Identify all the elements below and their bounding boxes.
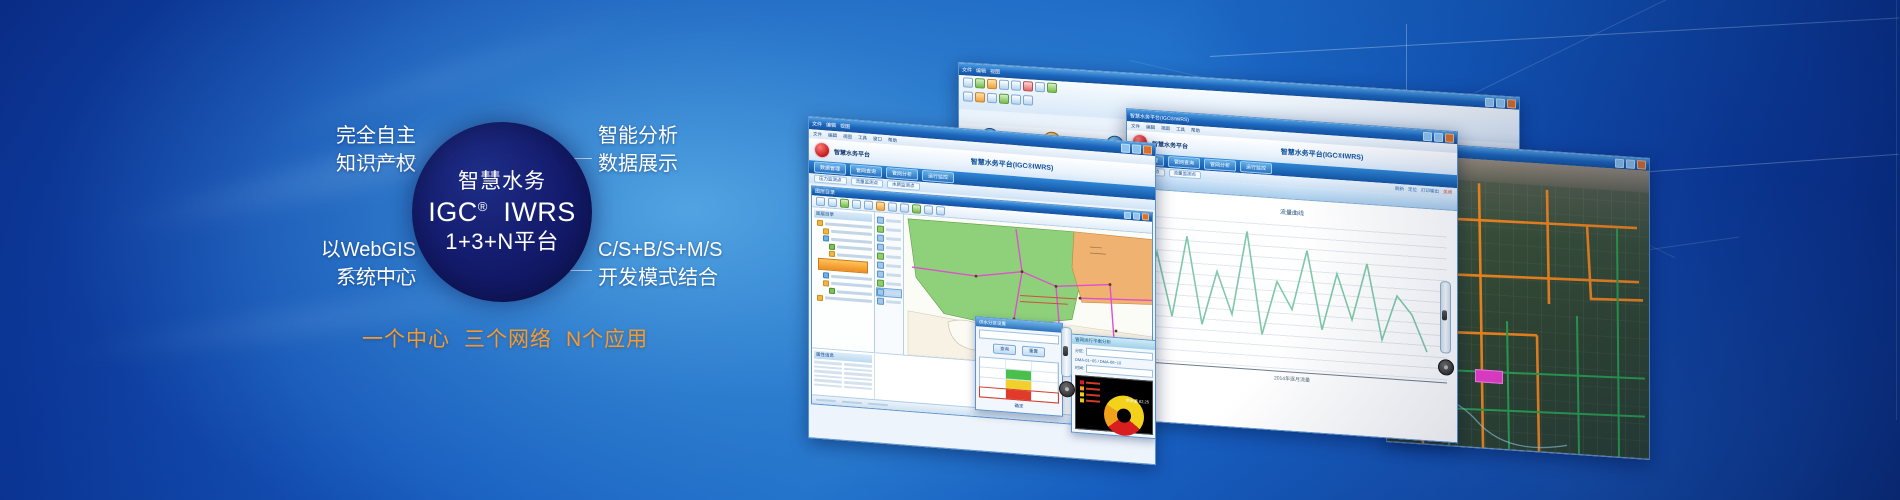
window-menu-label: 编辑 <box>976 67 986 75</box>
minimize-icon[interactable] <box>1485 97 1494 107</box>
tool-icon <box>877 297 884 305</box>
app-window-chart: 智慧水务平台(IGC®IWRS) 文件 编辑 视图 工具 帮助 智慧水务平台 智… <box>1126 108 1458 443</box>
application-screenshot-stack: 文件 编辑 视图 <box>790 40 1900 470</box>
feature-label-line2: 知识产权 <box>296 150 416 178</box>
map-navigation-pad[interactable] <box>1438 359 1454 376</box>
reset-button[interactable]: 重置 <box>1022 346 1045 358</box>
nav-tab[interactable]: 管网分析 <box>1204 158 1236 171</box>
mdi-title: 图层目录 <box>815 188 835 197</box>
minimize-icon[interactable] <box>1615 158 1624 168</box>
banner-root: 完全自主 知识产权 以WebGIS 系统中心 智能分析 数据展示 C/S+B/S… <box>0 0 1900 500</box>
sub-tab[interactable]: 流量监测点 <box>851 177 884 188</box>
window-controls[interactable] <box>1121 143 1152 154</box>
print-icon[interactable] <box>924 205 933 215</box>
legend-swatch <box>1080 398 1084 402</box>
feature-label-line1: 智能分析 <box>598 122 678 150</box>
brand-name: 智慧水务平台 <box>1152 138 1188 150</box>
open-icon[interactable] <box>816 197 825 207</box>
menu-item[interactable]: 帮助 <box>888 137 897 144</box>
feature-label-top-left: 完全自主 知识产权 <box>296 122 416 179</box>
palette-item[interactable] <box>877 225 901 234</box>
menu-item[interactable]: 编辑 <box>828 132 837 139</box>
palette-item-selected[interactable] <box>877 288 901 297</box>
maximize-icon[interactable] <box>1132 144 1141 154</box>
tool-icon <box>877 252 884 260</box>
window-menu-label: 文件 <box>812 120 822 128</box>
brand-name: 智慧水务平台 <box>834 147 870 159</box>
tagline-part-3: N个应用 <box>566 328 648 351</box>
company-logo-icon <box>815 143 829 158</box>
close-icon[interactable] <box>1507 99 1516 109</box>
status-cell-alarm <box>1006 389 1032 400</box>
status-link[interactable]: 关闭 <box>1443 189 1452 196</box>
window-menu-label: 视图 <box>990 67 1000 75</box>
layer-icon <box>829 251 835 257</box>
registered-trademark-icon: ® <box>478 199 488 214</box>
layer-icon <box>829 243 835 249</box>
layer-icon <box>823 235 829 241</box>
menu-item[interactable]: 文件 <box>1131 123 1140 130</box>
palette-item[interactable] <box>877 297 901 306</box>
query-button[interactable]: 查询 <box>993 343 1016 355</box>
pie-chart-panel: 供水量 62.25 <box>1075 375 1153 435</box>
tagline-part-1: 一个中心 <box>362 328 450 351</box>
maximize-icon[interactable] <box>1626 159 1635 169</box>
date-label: 时间: <box>1075 365 1084 372</box>
feature-label-line2: 开发模式结合 <box>598 264 723 292</box>
save-icon[interactable] <box>828 198 837 208</box>
sub-tab[interactable]: 压力监测点 <box>814 174 847 185</box>
tool-icon <box>877 234 884 242</box>
menu-item[interactable]: 视图 <box>1161 125 1170 132</box>
legend-swatch <box>1080 380 1084 384</box>
dialog-content: 查询 重置 确定 <box>976 326 1062 416</box>
close-icon[interactable] <box>1143 145 1152 155</box>
maximize-icon[interactable] <box>1133 212 1140 220</box>
help-icon[interactable] <box>936 206 945 216</box>
palette-item[interactable] <box>877 252 901 261</box>
badge-line-platform: 1+3+N平台 <box>445 231 559 253</box>
menu-item[interactable]: 视图 <box>843 133 852 140</box>
close-icon[interactable] <box>1637 160 1646 170</box>
zone-status-grid[interactable] <box>979 356 1059 403</box>
feature-label-line1: C/S+B/S+M/S <box>598 236 723 264</box>
minimize-icon[interactable] <box>1423 131 1432 141</box>
menu-item[interactable]: 编辑 <box>1146 124 1155 131</box>
tagline: 一个中心三个网络N个应用 <box>362 323 648 353</box>
dialog-zone-settings[interactable]: 供水分区设置 查询 重置 确定 <box>975 316 1063 417</box>
zoom-slider[interactable] <box>1440 281 1451 354</box>
nav-tab[interactable]: 运行监控 <box>1240 161 1272 174</box>
minimize-icon[interactable] <box>1121 143 1130 153</box>
layer-tree-panel[interactable]: 图层目录 <box>812 207 875 352</box>
feature-label-top-right: 智能分析 数据展示 <box>598 122 678 179</box>
layer-icon <box>817 294 823 300</box>
pie-legend <box>1080 380 1100 406</box>
layer-color-ramp <box>818 258 868 274</box>
feature-label-line2: 数据展示 <box>598 150 678 178</box>
close-icon[interactable] <box>1445 133 1454 143</box>
feature-label-bottom-left: 以WebGIS 系统中心 <box>276 236 416 293</box>
layer-icon <box>817 220 823 226</box>
badge-iwrs-text: IWRS <box>503 197 576 227</box>
maximize-icon[interactable] <box>1434 132 1443 142</box>
window-menu-label: 文件 <box>962 66 972 74</box>
status-link[interactable]: 定位 <box>1408 187 1417 194</box>
dialog-buttons[interactable]: 查询 重置 <box>979 342 1059 358</box>
menu-item[interactable]: 文件 <box>813 131 822 138</box>
badge-line-smart-water: 智慧水务 <box>458 171 546 192</box>
zoom-in-icon[interactable] <box>840 198 849 208</box>
feature-label-line1: 完全自主 <box>296 122 416 150</box>
feature-label-line1: 以WebGIS <box>276 236 416 264</box>
window-title: 智慧水务平台(IGC®IWRS) <box>1281 147 1364 163</box>
select-icon[interactable] <box>888 202 897 212</box>
chart-body[interactable]: 流量曲线 2014年逐月流量 <box>1127 188 1457 443</box>
legend-swatch <box>1080 386 1084 390</box>
menu-item[interactable]: 工具 <box>858 134 867 141</box>
tagline-part-2: 三个网络 <box>464 328 552 351</box>
layer-icon <box>823 228 829 234</box>
close-icon[interactable] <box>1142 213 1149 221</box>
selected-area-highlight <box>1475 369 1503 384</box>
window-title: 智慧水务平台(IGC®IWRS) <box>971 157 1054 173</box>
badge-igc-text: IGC <box>428 197 478 227</box>
menu-item[interactable]: 帮助 <box>1191 127 1200 134</box>
window-controls[interactable] <box>1615 158 1646 169</box>
measure-icon[interactable] <box>900 203 909 213</box>
infographic: 完全自主 知识产权 以WebGIS 系统中心 智能分析 数据展示 C/S+B/S… <box>0 0 800 500</box>
menu-item[interactable]: 窗口 <box>873 136 882 143</box>
attribute-header-column: 属性信息 <box>812 348 875 399</box>
tool-icon <box>877 261 884 269</box>
select-label: 分区: <box>1075 348 1084 355</box>
layer-icon <box>823 280 829 286</box>
zoom-slider[interactable] <box>1061 327 1072 378</box>
dialog-content: 分区: DMA-01~05 / DMA-06~10 时间: <box>1072 344 1156 439</box>
status-link[interactable]: 刷新 <box>1395 186 1404 193</box>
line-chart-svg <box>1138 209 1438 380</box>
window-menu-label: 视图 <box>840 122 850 130</box>
map-navigation-pad[interactable] <box>1059 381 1075 398</box>
layer-icon <box>823 272 829 278</box>
window-controls[interactable] <box>1485 97 1516 108</box>
tool-icon <box>877 270 884 278</box>
palette-item[interactable] <box>877 261 901 270</box>
palette-item[interactable] <box>877 234 901 243</box>
zoom-out-icon[interactable] <box>852 199 861 209</box>
badge-line-product-code: IGC® IWRS <box>428 199 576 226</box>
nav-tab[interactable]: 管网查询 <box>1168 156 1200 169</box>
identify-icon[interactable] <box>876 201 885 211</box>
tool-icon <box>877 225 884 233</box>
palette-item[interactable] <box>877 243 901 252</box>
window-menu-label: 编辑 <box>826 121 836 129</box>
dialog-balance-analysis[interactable]: 管网运行平衡分析 分区: DMA-01~05 / DMA-06~10 时间: <box>1071 334 1156 440</box>
pan-icon[interactable] <box>864 200 873 210</box>
menu-item[interactable]: 工具 <box>1176 126 1185 133</box>
layer-icon <box>829 288 835 294</box>
legend-swatch <box>1080 392 1084 396</box>
tool-icon <box>877 243 884 251</box>
tool-icon <box>877 216 884 224</box>
feature-label-bottom-right: C/S+B/S+M/S 开发模式结合 <box>598 236 723 293</box>
palette-item[interactable] <box>877 270 901 279</box>
sub-tab[interactable]: 水质监测点 <box>887 180 920 191</box>
status-link[interactable]: 打印输出 <box>1421 188 1439 195</box>
minimize-icon[interactable] <box>1124 212 1131 220</box>
center-circle-badge: 智慧水务 IGC® IWRS 1+3+N平台 <box>412 122 592 302</box>
tool-icon <box>877 279 884 287</box>
feature-label-line2: 系统中心 <box>276 264 416 292</box>
maximize-icon[interactable] <box>1496 98 1505 108</box>
palette-item[interactable] <box>877 216 901 225</box>
app-window-main-gis: 文件 编辑 视图 文件 编辑 视图 工具 窗口 帮助 智慧水务平台 <box>808 116 1156 465</box>
window-controls[interactable] <box>1423 131 1454 142</box>
tool-palette[interactable] <box>875 212 904 354</box>
layer-icon[interactable] <box>912 204 921 214</box>
tool-icon <box>877 288 884 296</box>
palette-item[interactable] <box>877 279 901 288</box>
